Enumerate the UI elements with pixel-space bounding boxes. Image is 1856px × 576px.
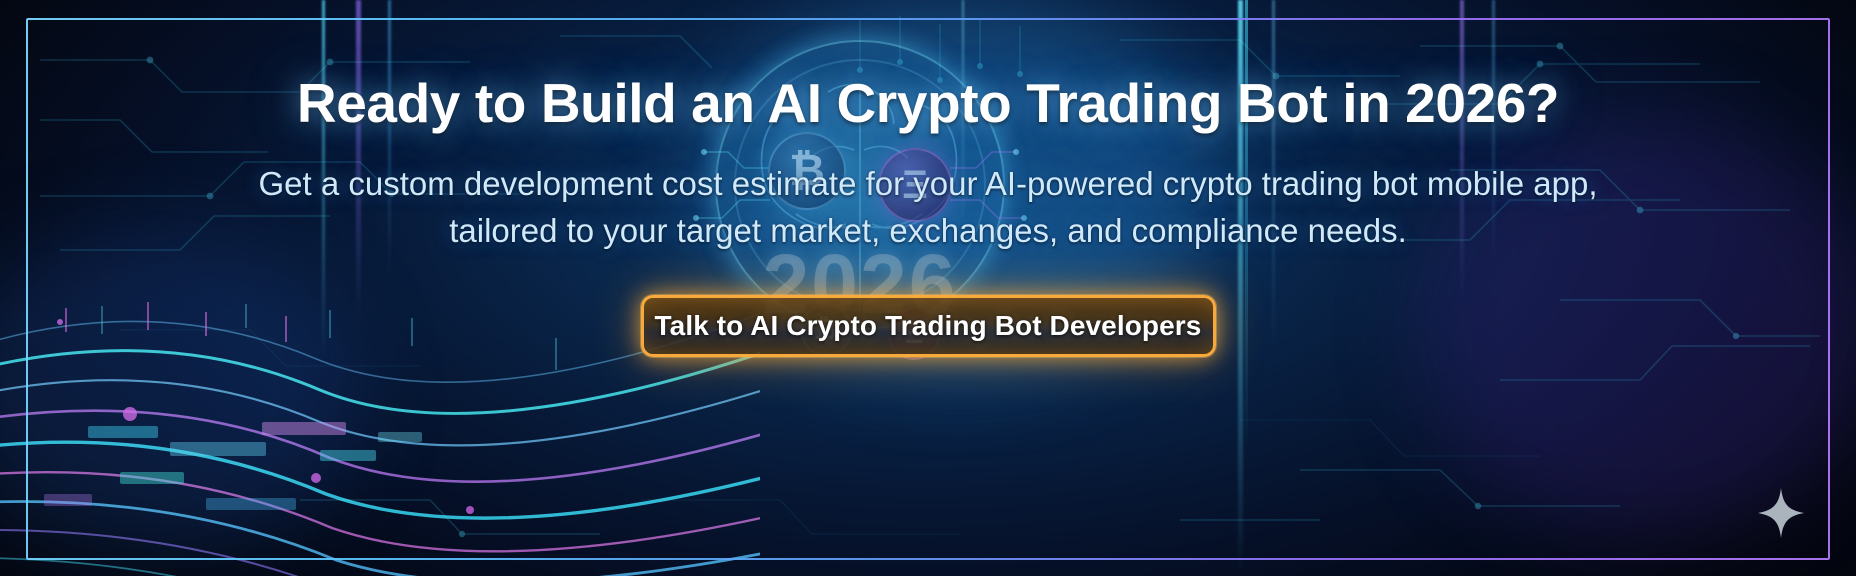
banner-subheadline: Get a custom development cost estimate f… xyxy=(228,161,1628,255)
cta-banner: 2026 ₿ Ξ ₿ Ξ xyxy=(0,0,1856,576)
cta-wrapper: Talk to AI Crypto Trading Bot Developers xyxy=(641,295,1216,357)
banner-content: Ready to Build an AI Crypto Trading Bot … xyxy=(0,0,1856,576)
page-title: Ready to Build an AI Crypto Trading Bot … xyxy=(297,74,1559,133)
talk-to-developers-button[interactable]: Talk to AI Crypto Trading Bot Developers xyxy=(641,295,1216,357)
sparkle-icon xyxy=(1758,488,1804,538)
